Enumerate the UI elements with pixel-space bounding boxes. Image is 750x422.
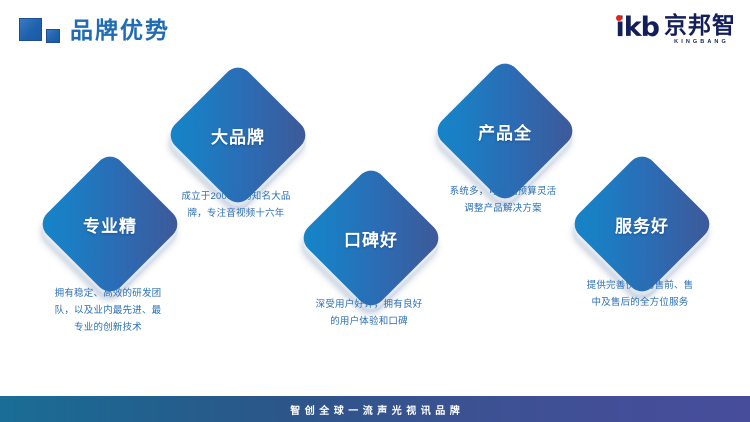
advantage-caption: 深受用户好评，拥有良好的用户体验和口碑 [274,296,464,330]
advantage-caption: 提供完善快捷的售前、售中及售后的全方位服务 [545,277,735,311]
advantage-caption: 系统多，可根据预算灵活调整产品解决方案 [408,183,598,217]
advantage-caption: 成立于2008年的知名大品牌，专注音视频十六年 [141,188,331,222]
decorative-square-large-icon [19,18,42,41]
page-title: 品牌优势 [70,16,170,44]
decorative-square-small-icon [46,29,60,43]
diamond-label: 大品牌 [186,83,290,187]
diamond-label: 产品全 [453,79,557,183]
logo-cn-wrapper: 京邦智 KINGBANG [664,13,736,46]
diamond-badge[interactable]: 服务好 [590,172,694,276]
logo-english-name: KINGBANG [674,38,729,46]
brand-logo: ikb 京邦智 KINGBANG [615,13,736,47]
diamond-label: 服务好 [590,172,694,276]
diamond-badge[interactable]: 大品牌 [186,83,290,187]
diamond-badge[interactable]: 产品全 [453,79,557,183]
advantage-caption: 拥有稳定、高效的研发团队，以及业内最先进、最专业的创新技术 [13,285,203,336]
footer-slogan: 智创全球一流声光视讯品牌 [286,402,465,417]
logo-chinese-name: 京邦智 [664,13,736,37]
slide-canvas: 品牌优势 ikb 京邦智 KINGBANG 专业精拥有稳定、高效的研发团队，以及… [0,0,750,422]
slide-footer: 智创全球一流声光视讯品牌 [0,396,750,422]
